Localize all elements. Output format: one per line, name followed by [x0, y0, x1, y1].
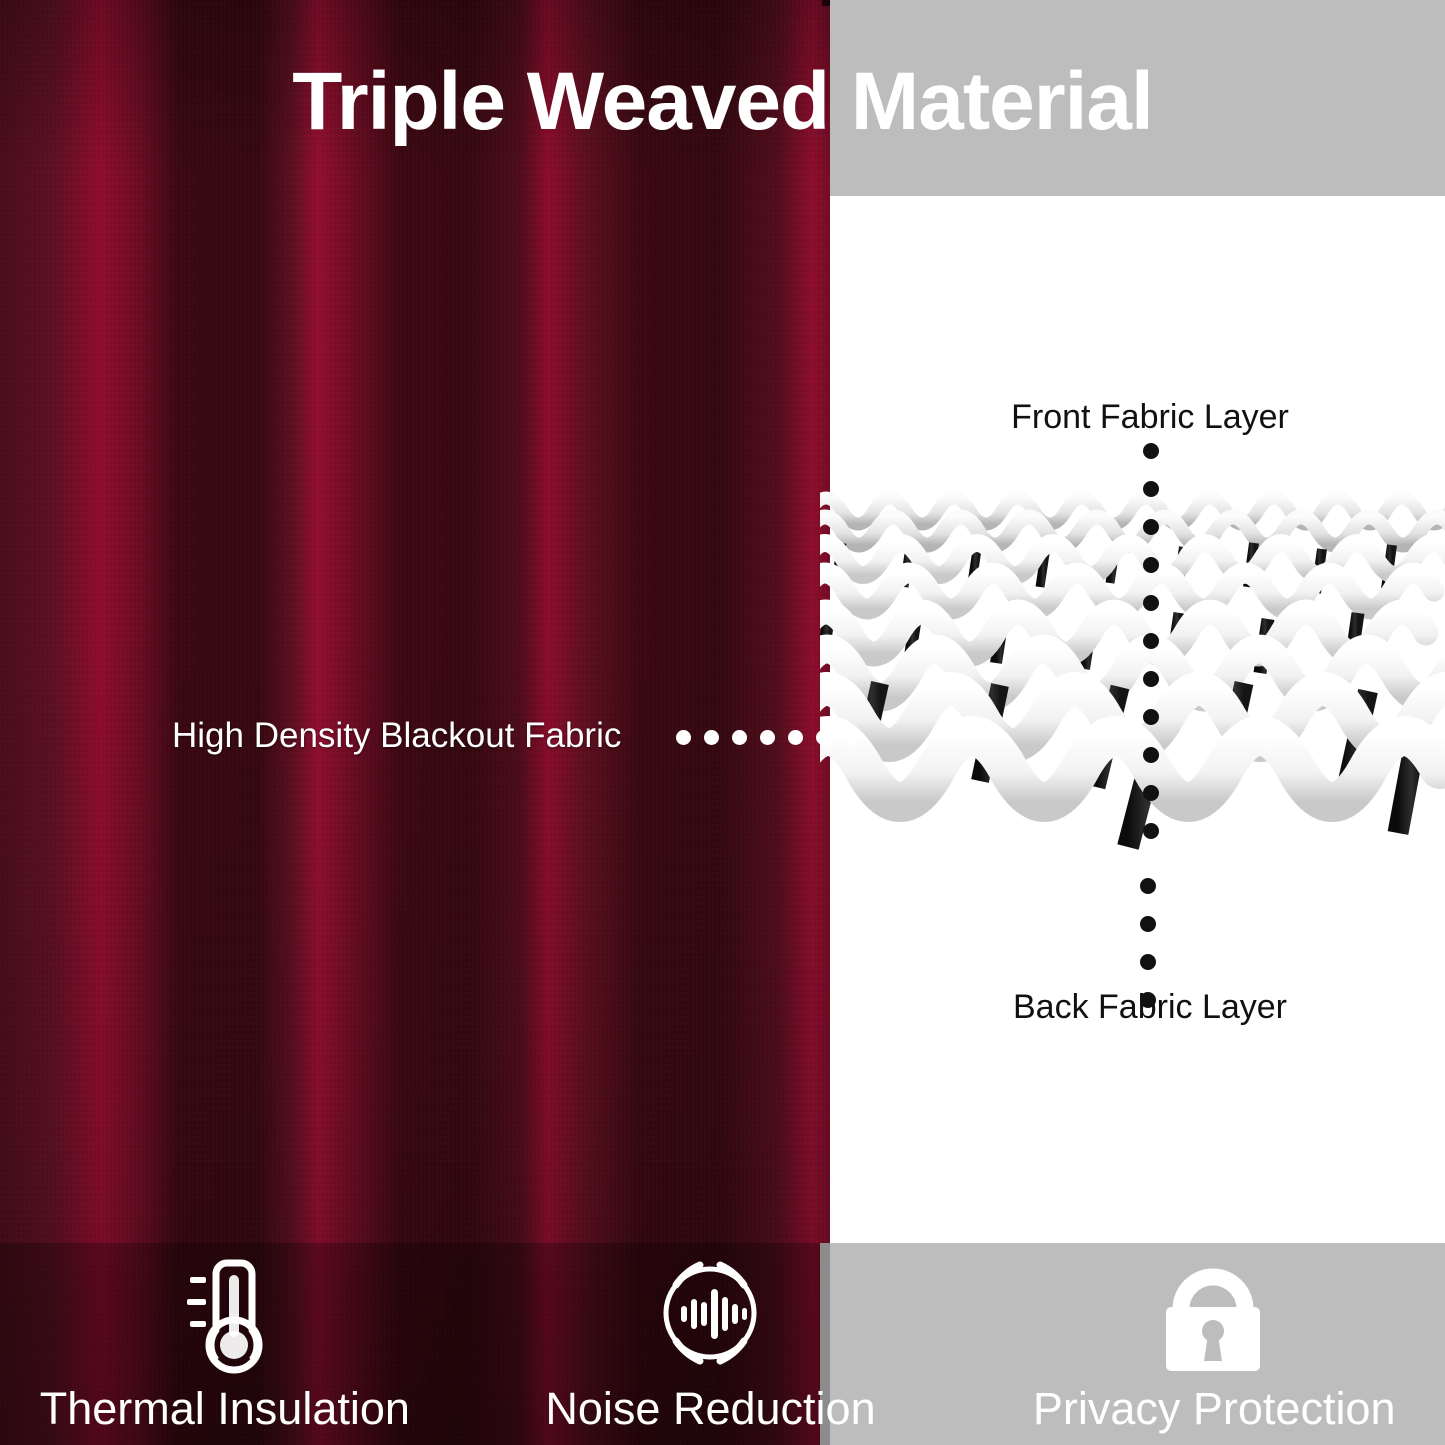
front-layer-leader-dots — [1143, 443, 1159, 861]
feature-label: Privacy Protection — [973, 1383, 1445, 1435]
feature-bar: Thermal Insulation — [0, 1243, 1445, 1445]
page-title: Triple Weaved Material — [0, 47, 1445, 157]
woven-fabric-illustration — [820, 455, 1445, 855]
padlock-icon — [1152, 1249, 1274, 1382]
sound-wave-icon — [646, 1249, 774, 1382]
blackout-fabric-label: High Density Blackout Fabric — [172, 716, 621, 756]
feature-thermal-insulation: Thermal Insulation — [0, 1243, 482, 1445]
feature-privacy-protection: Privacy Protection — [963, 1243, 1445, 1445]
feature-label: Noise Reduction — [470, 1383, 952, 1435]
back-fabric-layer-label: Back Fabric Layer — [940, 988, 1360, 1027]
thermometer-icon — [172, 1249, 280, 1382]
feature-noise-reduction: Noise Reduction — [482, 1243, 964, 1445]
blackout-leader-dots — [676, 730, 859, 745]
feature-label: Thermal Insulation — [0, 1383, 466, 1435]
front-fabric-layer-label: Front Fabric Layer — [940, 398, 1360, 437]
infographic-canvas: Triple Weaved Material — [0, 0, 1445, 1445]
